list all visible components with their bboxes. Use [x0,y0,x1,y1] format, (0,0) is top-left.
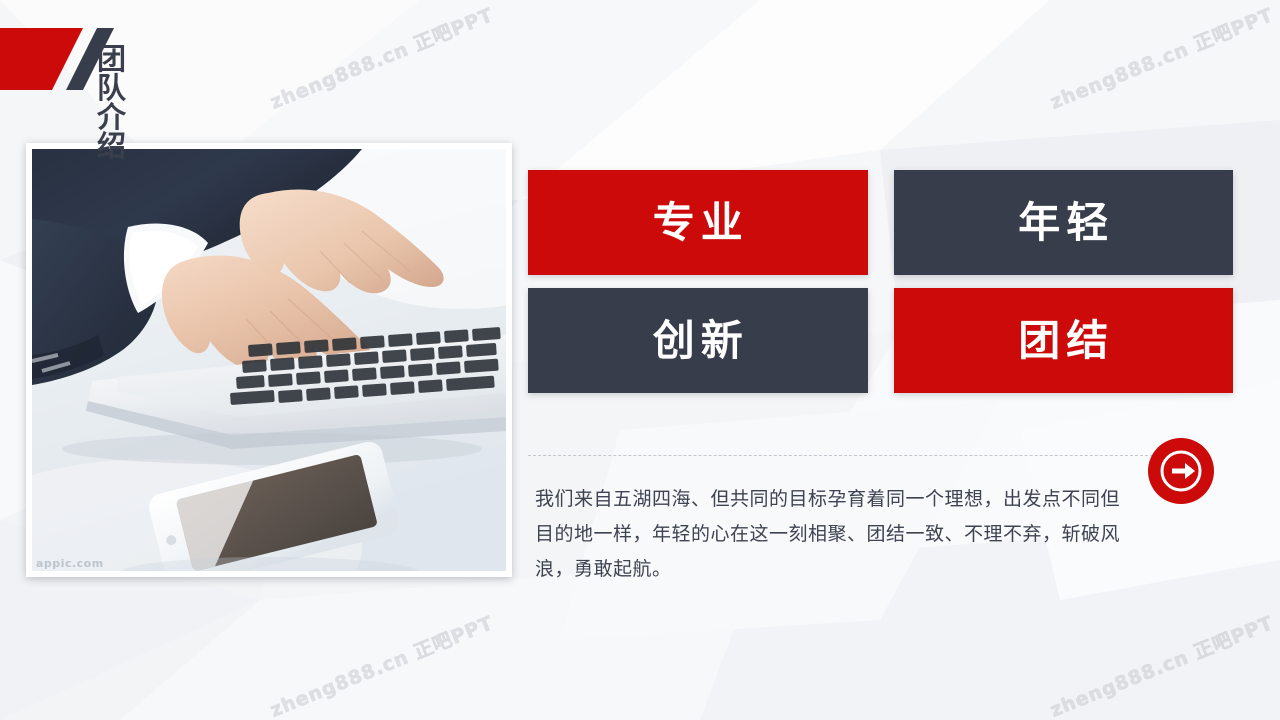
keyword-label: 专业 [647,202,749,244]
slide-team-introduction: zheng888.cn 正吧PPT zheng888.cn 正吧PPT zhen… [0,0,1280,720]
team-photo-frame: appic.com [26,143,512,577]
keyword-box-innovation[interactable]: 创新 [528,288,868,393]
keyword-label: 年轻 [1012,202,1114,244]
keyword-label: 创新 [647,320,749,362]
photo-watermark: appic.com [36,557,104,570]
keyword-box-grid: 专业 年轻 创新 团结 [528,170,1233,393]
keyword-box-young[interactable]: 年轻 [894,170,1234,275]
team-photo: appic.com [32,149,506,571]
keyword-row: 专业 年轻 [528,170,1233,275]
section-divider [528,455,1153,456]
laptop-typing-photo-illustration [32,149,506,571]
keyword-label: 团结 [1012,320,1114,362]
keyword-box-professional[interactable]: 专业 [528,170,868,275]
description-paragraph: 我们来自五湖四海、但共同的目标孕育着同一个理想，出发点不同但目的地一样，年轻的心… [535,482,1135,587]
keyword-row: 创新 团结 [528,288,1233,393]
arrow-right-circle-icon[interactable] [1147,437,1215,505]
keyword-box-unity[interactable]: 团结 [894,288,1234,393]
page-title: 团队介绍 [97,45,128,161]
